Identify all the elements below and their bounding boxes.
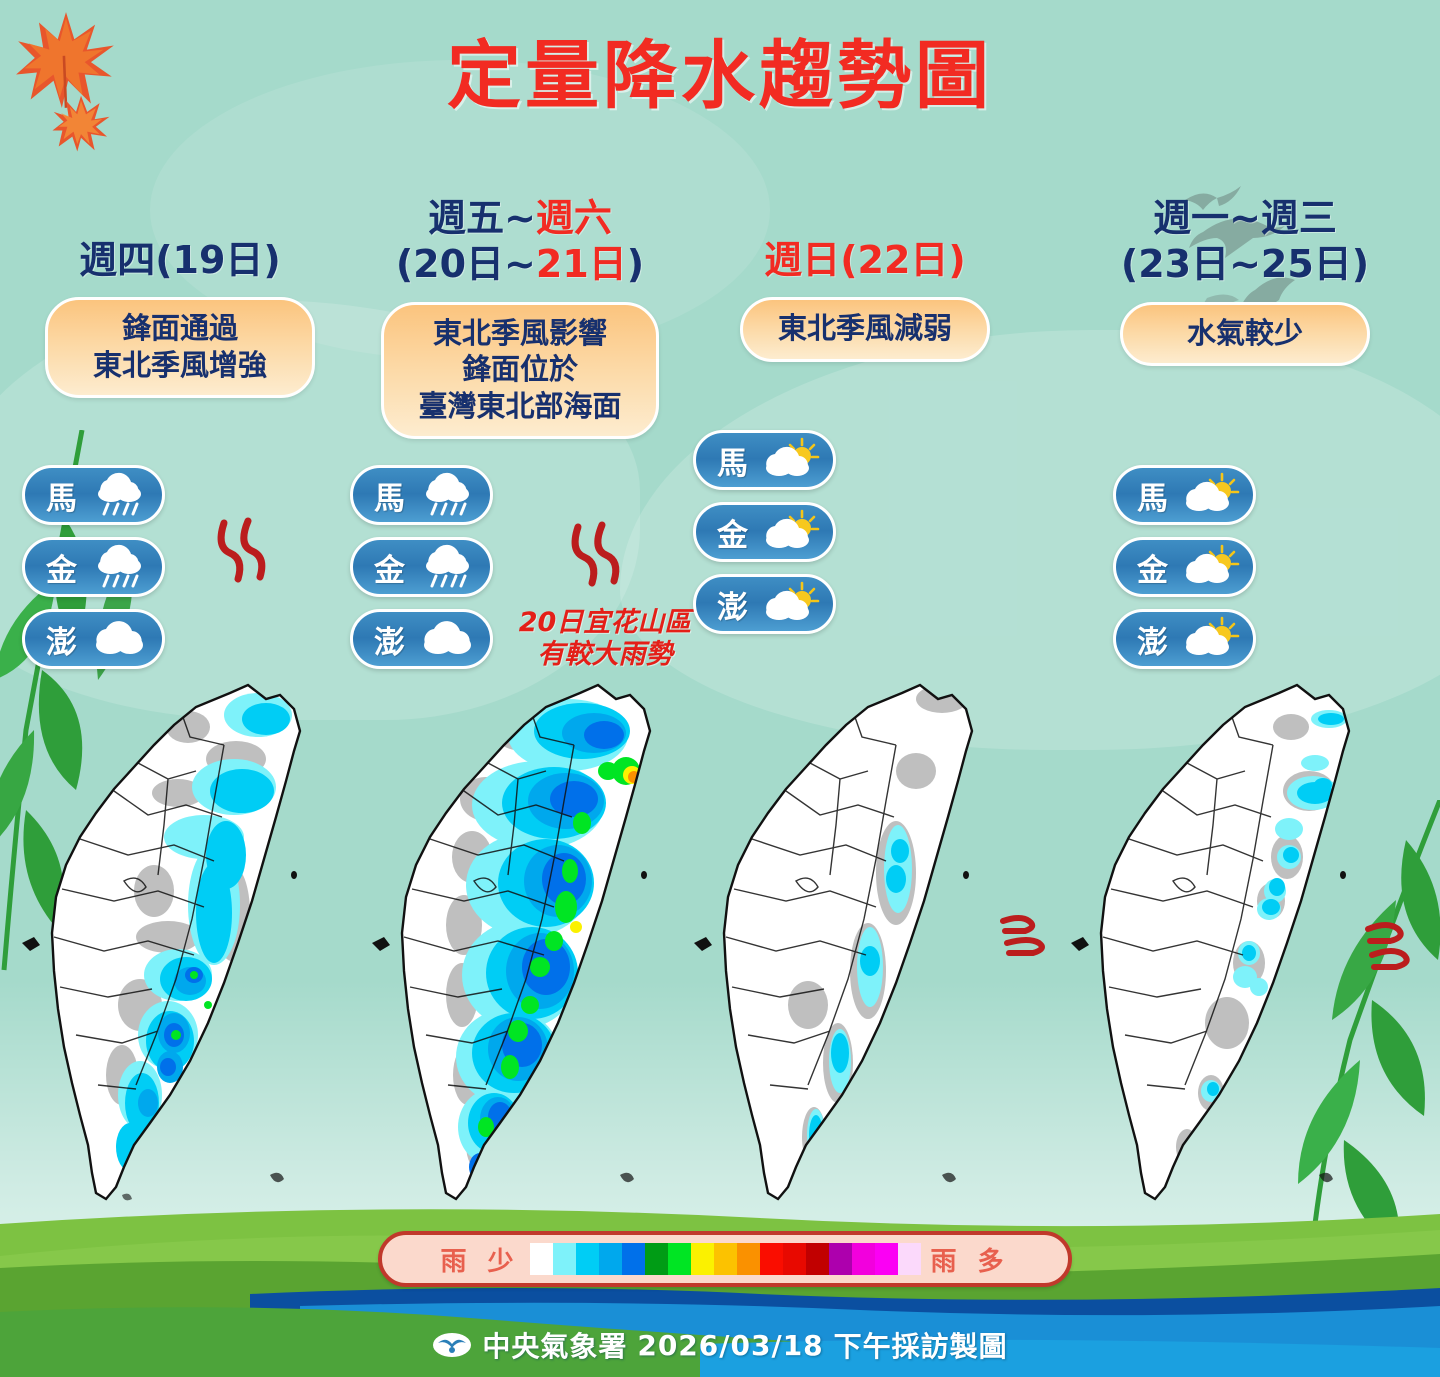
legend-swatch-0 [530, 1243, 553, 1275]
legend-high-label: 雨 多 [931, 1241, 1010, 1278]
forecast-column-mon-wed-23-25: 週一~週三 (23日~25日) 水氣較少 馬 [1065, 175, 1425, 1235]
island-badge-penghu[interactable]: 澎 [1113, 609, 1256, 669]
legend-swatch-6 [668, 1243, 691, 1275]
partly-sunny-icon [760, 509, 820, 555]
rainfall-colorbar-legend: 雨 少 雨 多 [378, 1231, 1072, 1287]
badge-label: 金 [1130, 545, 1176, 590]
description-line: 東北季風減弱 [759, 310, 971, 347]
precipitation-map-fri-sat-20-21 [368, 675, 698, 1245]
rain-icon [89, 544, 149, 590]
legend-swatch-16 [898, 1243, 921, 1275]
island-badge-penghu[interactable]: 澎 [350, 609, 493, 669]
badge-row: 馬 [693, 430, 1053, 490]
island-badge-penghu[interactable]: 澎 [693, 574, 836, 634]
badge-label: 澎 [1130, 617, 1176, 662]
island-badge-matsu[interactable]: 馬 [693, 430, 836, 490]
footer-agency: 中央氣象署 [482, 1325, 627, 1365]
island-badge-matsu[interactable]: 馬 [350, 465, 493, 525]
footer-note: 下午採訪製圖 [834, 1325, 1008, 1365]
column-description: 東北季風影響 鋒面位於 臺灣東北部海面 [381, 302, 659, 440]
legend-swatch-9 [737, 1243, 760, 1275]
legend-swatch-4 [622, 1243, 645, 1275]
forecast-column-fri-sat-20-21: 週五~週六 (20日~21日) 東北季風影響 鋒面位於 臺灣東北部海面 馬 [340, 175, 700, 1235]
island-badge-kinmen[interactable]: 金 [693, 502, 836, 562]
description-line: 水氣較少 [1139, 315, 1351, 352]
badge-row: 金 [350, 537, 710, 597]
badge-label: 澎 [39, 617, 85, 662]
cloud-icon [417, 616, 477, 662]
column-heading: 週五~週六 (20日~21日) [340, 175, 700, 288]
island-badges: 馬 金 [693, 430, 1053, 646]
heading-part-highlight: 週六 [536, 196, 612, 240]
island-badge-matsu[interactable]: 馬 [22, 465, 165, 525]
badge-label: 澎 [710, 582, 756, 627]
badge-label: 金 [367, 545, 413, 590]
precipitation-map-mon-wed-23-25 [1067, 675, 1397, 1245]
heading-line: 週日(22日) [764, 238, 966, 282]
island-badge-matsu[interactable]: 馬 [1113, 465, 1256, 525]
island-badge-kinmen[interactable]: 金 [1113, 537, 1256, 597]
rain-icon [89, 472, 149, 518]
legend-swatches [530, 1243, 921, 1275]
heading-line: 週一~週三 [1065, 195, 1425, 241]
legend-swatch-2 [576, 1243, 599, 1275]
column-description: 水氣較少 [1120, 302, 1370, 367]
partly-sunny-icon [1180, 616, 1240, 662]
heading-part: 週五~ [428, 196, 536, 240]
heading-part: (20日~ [396, 242, 536, 286]
legend-swatch-15 [875, 1243, 898, 1275]
column-heading: 週四(19日) [0, 175, 360, 283]
partly-sunny-icon [1180, 472, 1240, 518]
forecast-column-thu-19: 週四(19日) 鋒面通過 東北季風增強 馬 [0, 175, 360, 1235]
badge-row: 澎 [22, 609, 382, 669]
badge-row: 金 [693, 502, 1053, 562]
heading-part-highlight: 21日 [536, 242, 627, 286]
badge-row: 馬 [22, 465, 382, 525]
partly-sunny-icon [760, 581, 820, 627]
legend-low-label: 雨 少 [440, 1241, 519, 1278]
legend-swatch-5 [645, 1243, 668, 1275]
badge-row: 澎 [693, 574, 1053, 634]
badge-row: 金 [22, 537, 382, 597]
forecast-columns: 週四(19日) 鋒面通過 東北季風增強 馬 [0, 175, 1440, 1235]
legend-swatch-7 [691, 1243, 714, 1275]
badge-row: 澎 [1113, 609, 1440, 669]
column-heading: 週一~週三 (23日~25日) [1065, 175, 1425, 288]
forecast-column-sun-22: 週日(22日) 東北季風減弱 馬 [685, 175, 1045, 1235]
column-heading: 週日(22日) [685, 175, 1045, 283]
legend-swatch-14 [852, 1243, 875, 1275]
legend-swatch-8 [714, 1243, 737, 1275]
page-title: 定量降水趨勢圖 [0, 16, 1440, 123]
precipitation-map-sun-22 [690, 675, 1020, 1245]
legend-swatch-1 [553, 1243, 576, 1275]
cloud-icon [89, 616, 149, 662]
island-badge-kinmen[interactable]: 金 [350, 537, 493, 597]
column-description: 鋒面通過 東北季風增強 [45, 297, 315, 398]
cwa-logo-icon [432, 1330, 472, 1360]
heading-line: (23日~25日) [1065, 241, 1425, 287]
badge-label: 金 [39, 545, 85, 590]
heading-line: 週五~週六 [340, 195, 700, 241]
strong-wind-icon [208, 513, 282, 591]
heading-part: ) [627, 242, 644, 286]
footer-date: 2026/03/18 [637, 1329, 823, 1362]
badge-label: 金 [710, 510, 756, 555]
footer-bar: 中央氣象署 2026/03/18 下午採訪製圖 [0, 1322, 1440, 1368]
description-line: 東北季風影響 [400, 315, 640, 352]
island-badge-penghu[interactable]: 澎 [22, 609, 165, 669]
description-line: 東北季風增強 [64, 347, 296, 384]
description-line: 鋒面通過 [64, 310, 296, 347]
precipitation-map-thu-19 [18, 675, 348, 1245]
strong-wind-icon [562, 517, 636, 595]
badge-label: 馬 [367, 473, 413, 518]
legend-swatch-13 [829, 1243, 852, 1275]
island-badges: 馬 金 [1113, 465, 1440, 681]
description-line: 臺灣東北部海面 [400, 388, 640, 425]
island-badges: 馬 金 [22, 465, 382, 681]
description-line: 鋒面位於 [400, 351, 640, 388]
island-badge-kinmen[interactable]: 金 [22, 537, 165, 597]
badge-label: 澎 [367, 617, 413, 662]
partly-sunny-icon [1180, 544, 1240, 590]
partly-sunny-icon [760, 437, 820, 483]
heading-line: (20日~21日) [340, 241, 700, 287]
badge-row: 馬 [350, 465, 710, 525]
badge-label: 馬 [39, 473, 85, 518]
badge-label: 馬 [1130, 473, 1176, 518]
badge-label: 馬 [710, 438, 756, 483]
badge-row: 馬 [1113, 465, 1440, 525]
heading-line: 週四(19日) [79, 238, 281, 282]
column-description: 東北季風減弱 [740, 297, 990, 362]
legend-swatch-12 [806, 1243, 829, 1275]
rain-icon [417, 544, 477, 590]
legend-swatch-10 [760, 1243, 783, 1275]
legend-swatch-11 [783, 1243, 806, 1275]
rain-icon [417, 472, 477, 518]
badge-row: 金 [1113, 537, 1440, 597]
legend-swatch-3 [599, 1243, 622, 1275]
